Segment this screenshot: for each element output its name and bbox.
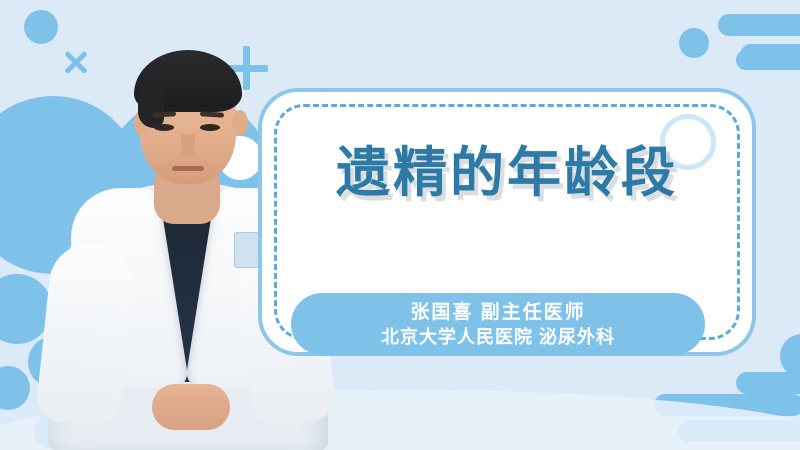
doctor-info-banner: 张国喜 副主任医师 北京大学人民医院 泌尿外科 — [291, 293, 705, 355]
doctor-hospital-department: 北京大学人民医院 泌尿外科 — [291, 325, 705, 350]
hair — [134, 50, 242, 112]
decor-speed-bar-br-1 — [736, 372, 800, 394]
eye-right — [200, 124, 220, 131]
eye-left — [154, 124, 174, 131]
page-title: 遗精的年龄段 — [262, 128, 752, 207]
hands — [152, 384, 230, 430]
ear-right — [232, 110, 248, 136]
mouth — [172, 166, 204, 171]
decor-speed-bar-tr-4 — [736, 50, 792, 70]
title-card-canvas: 遗精的年龄段 张国喜 副主任医师 北京大学人民医院 泌尿外科 — [0, 0, 800, 450]
decor-circle-left-bottom — [0, 366, 30, 410]
nose — [181, 134, 195, 158]
decor-dot-top-right — [679, 28, 709, 58]
doctor-name-title: 张国喜 副主任医师 — [291, 300, 705, 325]
decor-speed-bar-tr-1 — [718, 14, 800, 36]
